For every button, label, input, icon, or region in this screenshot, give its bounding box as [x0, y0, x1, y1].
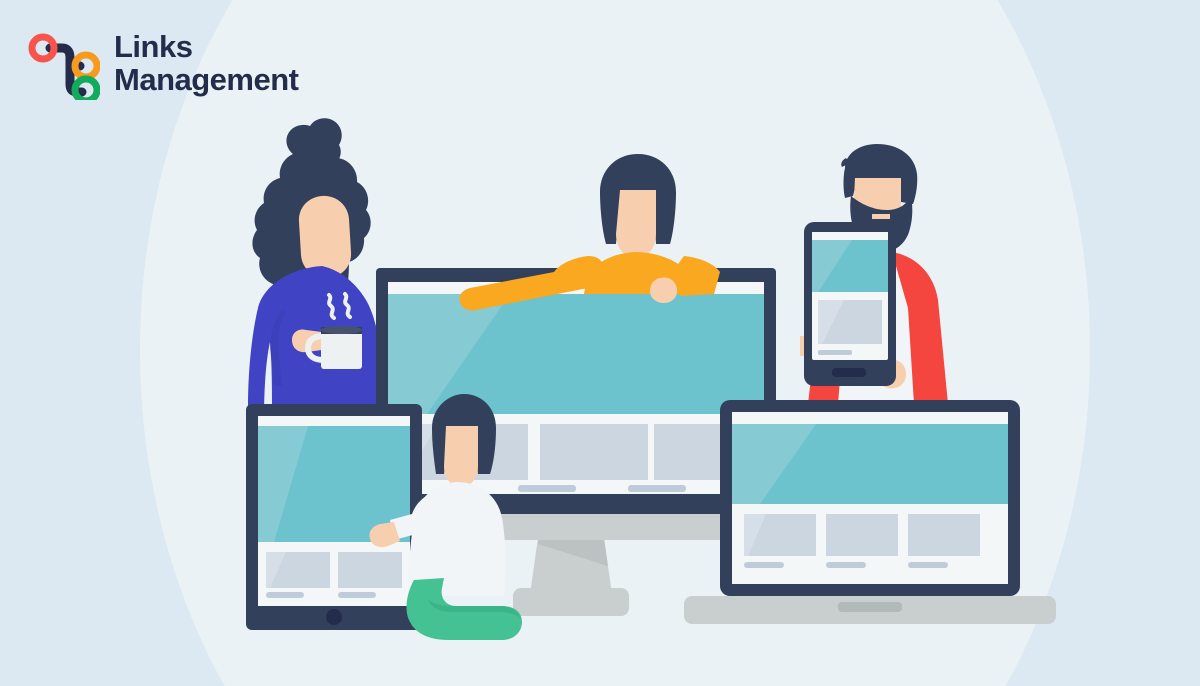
device-laptop	[684, 400, 1056, 624]
laptop-screen-card-2	[826, 514, 898, 556]
responsive-devices-illustration	[0, 0, 1200, 686]
brand-wordmark: Links Management	[114, 31, 298, 97]
device-smartphone	[804, 222, 896, 386]
laptop-screen-bar-1	[744, 562, 784, 568]
tablet-screen-bar-1	[266, 592, 304, 598]
face-shape	[616, 190, 656, 258]
laptop-screen-bar-3	[908, 562, 948, 568]
phone-home-bar	[832, 368, 866, 377]
illustration-canvas: Links Management	[0, 0, 1200, 686]
sweater-arm-right	[672, 256, 720, 296]
mouth-shape	[872, 214, 890, 219]
hand-shape	[650, 278, 677, 303]
phone-screen-topbar	[812, 232, 888, 240]
laptop-screen-bar-2	[826, 562, 866, 568]
laptop-trackpad-notch	[838, 602, 902, 612]
tablet-screen-topbar	[258, 416, 410, 426]
brand-logo[interactable]: Links Management	[28, 28, 298, 100]
brand-name-line1: Links	[114, 31, 298, 64]
laptop-screen-topbar	[732, 412, 1008, 424]
monitor-screen-bar-2	[628, 485, 686, 492]
logo-node-top	[32, 37, 54, 59]
logo-node-middle	[75, 55, 97, 77]
tablet-screen-card-2	[338, 552, 402, 588]
logo-node-bottom	[75, 79, 97, 100]
tablet-screen-bar-2	[338, 592, 376, 598]
person-woman-orange-sweater	[459, 154, 720, 311]
monitor-screen-bar-1	[518, 485, 576, 492]
monitor-screen-card-2	[540, 424, 648, 480]
phone-screen-bar	[818, 350, 852, 355]
tablet-home-button	[326, 609, 342, 625]
device-tablet	[246, 404, 422, 630]
links-management-mark-icon	[28, 28, 100, 100]
brand-name-line2: Management	[114, 64, 298, 97]
laptop-screen-card-3	[908, 514, 980, 556]
mug-rim-inner	[321, 326, 362, 334]
monitor-stand-base	[513, 588, 629, 616]
